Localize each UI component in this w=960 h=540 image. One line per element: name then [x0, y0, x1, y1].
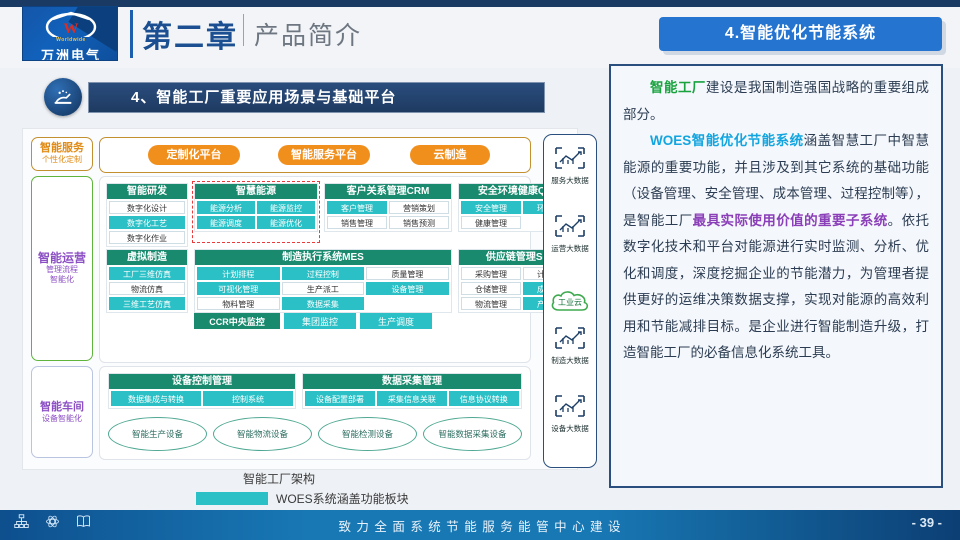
footer-slogan: 致 力 全 面 系 统 节 能 服 务 能 管 中 心 建 设 — [0, 516, 960, 535]
panel-smart-rd: 智能研发 数字化设计 数字化工艺 数字化作业 — [106, 183, 188, 247]
highlight-smart-factory: 智能工厂 — [650, 80, 706, 95]
section-title-bar: 4、智能工厂重要应用场景与基础平台 — [88, 82, 545, 113]
chart-icon — [553, 393, 587, 419]
paragraph-2-rest: 。依托数字化技术和平台对能源进行实时监测、分析、优化和调度，深度挖掘企业的节能潜… — [623, 213, 929, 361]
equipment-oval: 智能生产设备 — [108, 417, 207, 451]
industrial-cloud-label: 工业云 — [558, 297, 582, 307]
cell-item: 数据采集 — [282, 297, 365, 310]
company-logo: W Worldwide 万洲电气 — [22, 6, 118, 61]
industrial-cloud-node: 工业云 — [549, 288, 591, 314]
highlight-woes-system: WOES智能优化节能系统 — [650, 133, 804, 148]
description-panel: 智能工厂建设是我国制造强国战略的重要组成部分。 WOES智能优化节能系统涵盖智慧… — [609, 64, 943, 488]
cell-item: 能源分析 — [197, 201, 255, 214]
panel-data-acquisition: 数据采集管理 设备配置部署 采集信息关联 信息协议转换 — [302, 373, 522, 409]
panel-header: 设备控制管理 — [109, 374, 295, 389]
big-data-node-label: 运营大数据 — [547, 244, 593, 253]
platform-pill-cloud-manufacturing: 云制造 — [410, 145, 490, 165]
platform-pill-customization: 定制化平台 — [148, 145, 240, 165]
cell-item: 设备配置部署 — [305, 391, 375, 406]
panel-header: 数据采集管理 — [303, 374, 521, 389]
big-data-node-label: 设备大数据 — [547, 424, 593, 433]
cell-item: 工厂三维仿真 — [109, 267, 185, 280]
cell-item: 能源监控 — [257, 201, 315, 214]
section-title-label: 4、智能工厂重要应用场景与基础平台 — [89, 83, 544, 112]
big-data-node-label: 服务大数据 — [547, 176, 593, 185]
panel-cells: 工厂三维仿真 物流仿真 三维工艺仿真 — [107, 265, 187, 312]
layer-label-smart-workshop: 智能车间 设备智能化 — [31, 366, 93, 458]
cell-item: 数据集成与转换 — [111, 391, 201, 406]
panel-mes: 制造执行系统MES 计划排程 过程控制 质量管理 可视化管理 生产派工 设备管理… — [194, 249, 452, 313]
layer-label-sub: 设备智能化 — [32, 414, 92, 424]
cell-item: 过程控制 — [282, 267, 365, 280]
cell-item: 销售管理 — [327, 216, 387, 229]
panel-cells: 计划排程 过程控制 质量管理 可视化管理 生产派工 设备管理 物料管理 数据采集 — [195, 265, 451, 312]
legend-label: WOES系统涵盖功能板块 — [276, 490, 409, 507]
topic-badge: 4.智能优化节能系统 — [659, 17, 942, 51]
header-accent-line — [0, 0, 960, 7]
cell-item: 营销策划 — [389, 201, 449, 214]
cell-item: 设备管理 — [366, 282, 449, 295]
ccr-production-scheduling: 生产调度 — [360, 313, 432, 329]
cell-item: 可视化管理 — [197, 282, 280, 295]
panel-cells: 数字化设计 数字化工艺 数字化作业 — [107, 199, 187, 246]
chapter-separator — [243, 14, 244, 46]
layer-label-title: 智能车间 — [32, 401, 92, 414]
cell-item: 计划排程 — [197, 267, 280, 280]
smart-factory-architecture-diagram: 智能服务 个性化定制 智能运营 管理流程 智能化 智能车间 设备智能化 定制化平… — [22, 128, 578, 470]
equipment-oval: 智能数据采集设备 — [423, 417, 522, 451]
operation-layer-area: 智能研发 数字化设计 数字化工艺 数字化作业 智慧能源 能源分析 能源监控 能源… — [99, 176, 531, 363]
platform-pill-smart-service: 智能服务平台 — [278, 145, 370, 165]
chart-icon — [553, 325, 587, 351]
chart-icon — [553, 213, 587, 239]
cell-item: 采购管理 — [461, 267, 521, 280]
panel-virtual-manufacturing: 虚拟制造 工厂三维仿真 物流仿真 三维工艺仿真 — [106, 249, 188, 313]
logo-subtitle: Worldwide — [23, 37, 118, 43]
chart-icon — [553, 145, 587, 171]
big-data-column: 服务大数据 运营大数据 工业云 制造大数据 — [543, 134, 597, 468]
cell-item: 仓储管理 — [461, 282, 521, 295]
cell-item: 能源调度 — [197, 216, 255, 229]
cell-item: 采集信息关联 — [377, 391, 447, 406]
diagram-caption: 智能工厂架构 — [243, 470, 315, 487]
cell-item: 质量管理 — [366, 267, 449, 280]
big-data-node-manufacturing: 制造大数据 — [547, 325, 593, 365]
ccr-group-monitoring: 集团监控 — [284, 313, 356, 329]
big-data-node-label: 制造大数据 — [547, 356, 593, 365]
layer-label-sub: 个性化定制 — [32, 155, 92, 165]
chapter-title: 第二章 — [142, 12, 238, 56]
layer-label-title: 智能服务 — [32, 142, 92, 155]
panel-cells: 能源分析 能源监控 能源调度 能源优化 — [195, 199, 317, 231]
panel-cells: 数据集成与转换 控制系统 — [109, 389, 295, 408]
logo-chinese-name: 万洲电气 — [23, 45, 118, 61]
section-bullet-icon — [44, 78, 82, 116]
panel-header: 智慧能源 — [195, 184, 317, 199]
cell-item: 三维工艺仿真 — [109, 297, 185, 310]
panel-smart-energy: 智慧能源 能源分析 能源监控 能源调度 能源优化 — [194, 183, 318, 232]
legend-color-swatch — [196, 492, 268, 505]
platform-strip: 定制化平台 智能服务平台 云制造 — [99, 137, 531, 173]
workshop-layer-area: 设备控制管理 数据集成与转换 控制系统 数据采集管理 设备配置部署 采集信息关联… — [99, 366, 531, 460]
panel-header: 客户关系管理CRM — [325, 184, 451, 199]
layer-label-title: 智能运营 — [32, 252, 92, 265]
cell-item: 物料管理 — [197, 297, 280, 310]
page-number: - 39 - — [912, 515, 942, 530]
description-text: 智能工厂建设是我国制造强国战略的重要组成部分。 WOES智能优化节能系统涵盖智慧… — [623, 75, 929, 367]
header-divider — [130, 10, 133, 58]
ccr-central-monitoring: CCR中央监控 — [194, 313, 280, 329]
panel-cells: 设备配置部署 采集信息关联 信息协议转换 — [303, 389, 521, 408]
logo-emblem-icon: W — [23, 11, 118, 37]
cell-item: 健康管理 — [461, 216, 521, 229]
equipment-oval: 智能物流设备 — [213, 417, 312, 451]
big-data-node-equipment: 设备大数据 — [547, 393, 593, 433]
panel-header: 虚拟制造 — [107, 250, 187, 265]
chapter-subtitle: 产品简介 — [254, 16, 362, 52]
layer-label-sub: 智能化 — [32, 275, 92, 285]
svg-text:W: W — [64, 21, 79, 37]
cell-item: 能源优化 — [257, 216, 315, 229]
ccr-monitoring-row: CCR中央监控 集团监控 生产调度 — [194, 313, 452, 329]
description-paragraph-1: 智能工厂建设是我国制造强国战略的重要组成部分。 — [623, 75, 929, 128]
layer-label-sub: 管理流程 — [32, 265, 92, 275]
equipment-oval: 智能检测设备 — [318, 417, 417, 451]
cell-item: 安全管理 — [461, 201, 521, 214]
panel-header: 智能研发 — [107, 184, 187, 199]
equipment-oval-row: 智能生产设备 智能物流设备 智能检测设备 智能数据采集设备 — [108, 417, 522, 451]
layer-label-smart-service: 智能服务 个性化定制 — [31, 137, 93, 171]
panel-device-control: 设备控制管理 数据集成与转换 控制系统 — [108, 373, 296, 409]
big-data-node-operation: 运营大数据 — [547, 213, 593, 253]
cell-item: 物流仿真 — [109, 282, 185, 295]
panel-crm: 客户关系管理CRM 客户管理 营销策划 销售管理 销售预测 — [324, 183, 452, 232]
cell-item: 数字化作业 — [109, 231, 185, 244]
cell-item: 销售预测 — [389, 216, 449, 229]
topic-badge-label: 4.智能优化节能系统 — [659, 17, 942, 51]
description-paragraph-2: WOES智能优化节能系统涵盖智慧工厂中智慧能源的重要功能，并且涉及到其它系统的基… — [623, 128, 929, 367]
big-data-node-service: 服务大数据 — [547, 145, 593, 185]
highlight-key-subsystem: 最具实际使用价值的重要子系统 — [693, 213, 888, 228]
cell-item: 信息协议转换 — [449, 391, 519, 406]
panel-header: 制造执行系统MES — [195, 250, 451, 265]
cell-item: 物流管理 — [461, 297, 521, 310]
cell-item: 控制系统 — [203, 391, 293, 406]
cell-item: 数字化设计 — [109, 201, 185, 214]
cell-item: 生产派工 — [282, 282, 365, 295]
cell-item: 客户管理 — [327, 201, 387, 214]
cell-item: 数字化工艺 — [109, 216, 185, 229]
layer-label-smart-operation: 智能运营 管理流程 智能化 — [31, 176, 93, 361]
panel-cells: 客户管理 营销策划 销售管理 销售预测 — [325, 199, 451, 231]
